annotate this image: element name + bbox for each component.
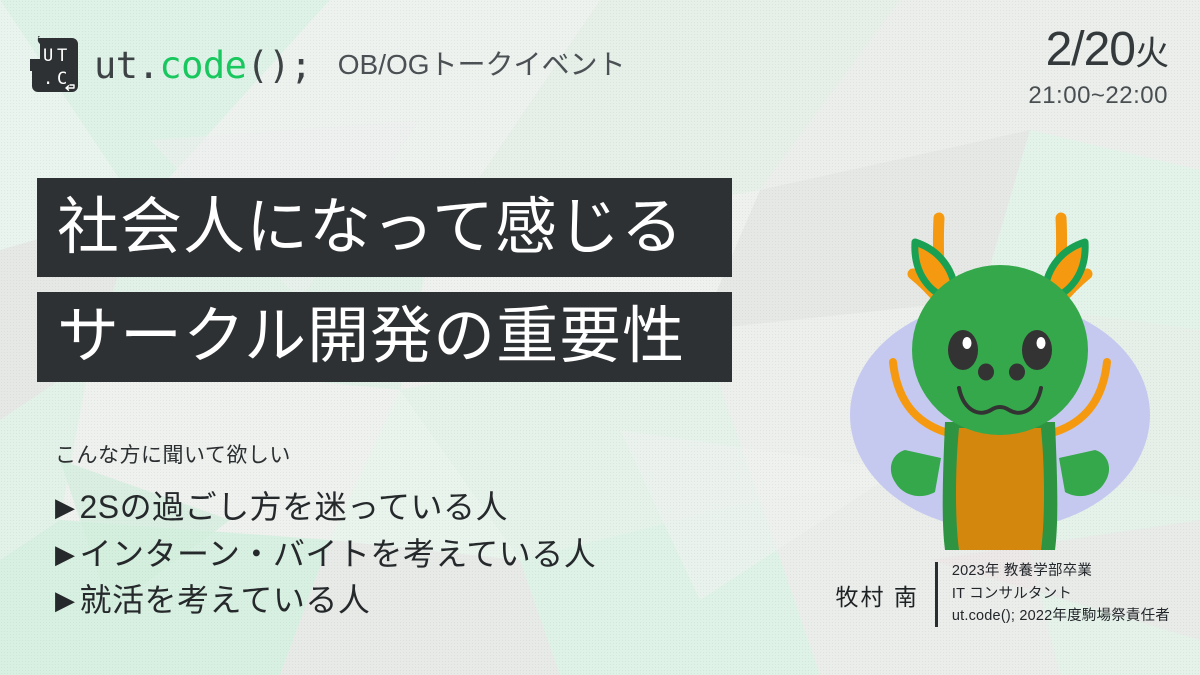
svg-text:T: T [57, 46, 67, 66]
speaker-details: 2023年 教養学部卒業 IT コンサルタント ut.code(); 2022年… [952, 562, 1170, 627]
event-date-day: 2/20 [1046, 23, 1135, 76]
event-date-block: 2/20火 21:00~22:00 [1028, 26, 1168, 108]
event-time: 21:00~22:00 [1028, 84, 1168, 108]
poster-header: U T . C ut.code(); OB/OGトークイベント 2/20火 21… [0, 0, 1200, 130]
title-line1-text: 社会人になって感じる [57, 197, 684, 259]
list-item: ▶ 2Sの過ごし方を迷っている人 [55, 484, 596, 530]
speaker-divider [935, 562, 938, 627]
brand-row: U T . C ut.code(); OB/OGトークイベント [30, 36, 626, 94]
list-item: ▶ 就活を考えている人 [55, 577, 596, 623]
svg-text:U: U [43, 46, 53, 66]
wordmark-suffix: (); [246, 47, 311, 84]
green-dragon-mascot-icon [845, 150, 1155, 550]
list-item-label: 2Sの過ごし方を迷っている人 [80, 484, 509, 530]
list-item-label: 就活を考えている人 [80, 577, 371, 623]
brand-wordmark: ut.code(); [94, 47, 312, 84]
event-date-weekday: 火 [1135, 35, 1168, 73]
title-line2-text: サークル開発の重要性 [57, 306, 685, 368]
target-audience-block: こんな方に聞いて欲しい ▶ 2Sの過ごし方を迷っている人 ▶ インターン・バイト… [55, 443, 596, 623]
event-date: 2/20火 [1028, 26, 1168, 74]
utcode-logo-icon: U T . C [30, 36, 80, 94]
audience-lead-text: こんな方に聞いて欲しい [55, 443, 596, 468]
speaker-detail-line: IT コンサルタント [952, 585, 1170, 605]
title-bar-line2: サークル開発の重要性 [37, 292, 732, 382]
svg-text:C: C [57, 69, 67, 89]
event-poster: U T . C ut.code(); OB/OGトークイベント 2/20火 21… [0, 0, 1200, 675]
wordmark-prefix: ut. [94, 47, 159, 84]
triangle-bullet-icon: ▶ [55, 494, 76, 520]
triangle-bullet-icon: ▶ [55, 541, 76, 567]
event-subtitle: OB/OGトークイベント [338, 51, 626, 79]
speaker-name: 牧村 南 [835, 578, 934, 612]
title-bar-line1: 社会人になって感じる [37, 178, 732, 277]
list-item: ▶ インターン・バイトを考えている人 [55, 531, 596, 577]
speaker-info-block: 牧村 南 2023年 教養学部卒業 IT コンサルタント ut.code(); … [835, 562, 1170, 627]
svg-text:.: . [43, 69, 53, 89]
speaker-detail-line: 2023年 教養学部卒業 [952, 562, 1170, 582]
triangle-bullet-icon: ▶ [55, 587, 76, 613]
speaker-detail-line: ut.code(); 2022年度駒場祭責任者 [952, 607, 1170, 627]
wordmark-code: code [159, 47, 246, 84]
audience-list: ▶ 2Sの過ごし方を迷っている人 ▶ インターン・バイトを考えている人 ▶ 就活… [55, 484, 596, 623]
list-item-label: インターン・バイトを考えている人 [80, 531, 597, 577]
